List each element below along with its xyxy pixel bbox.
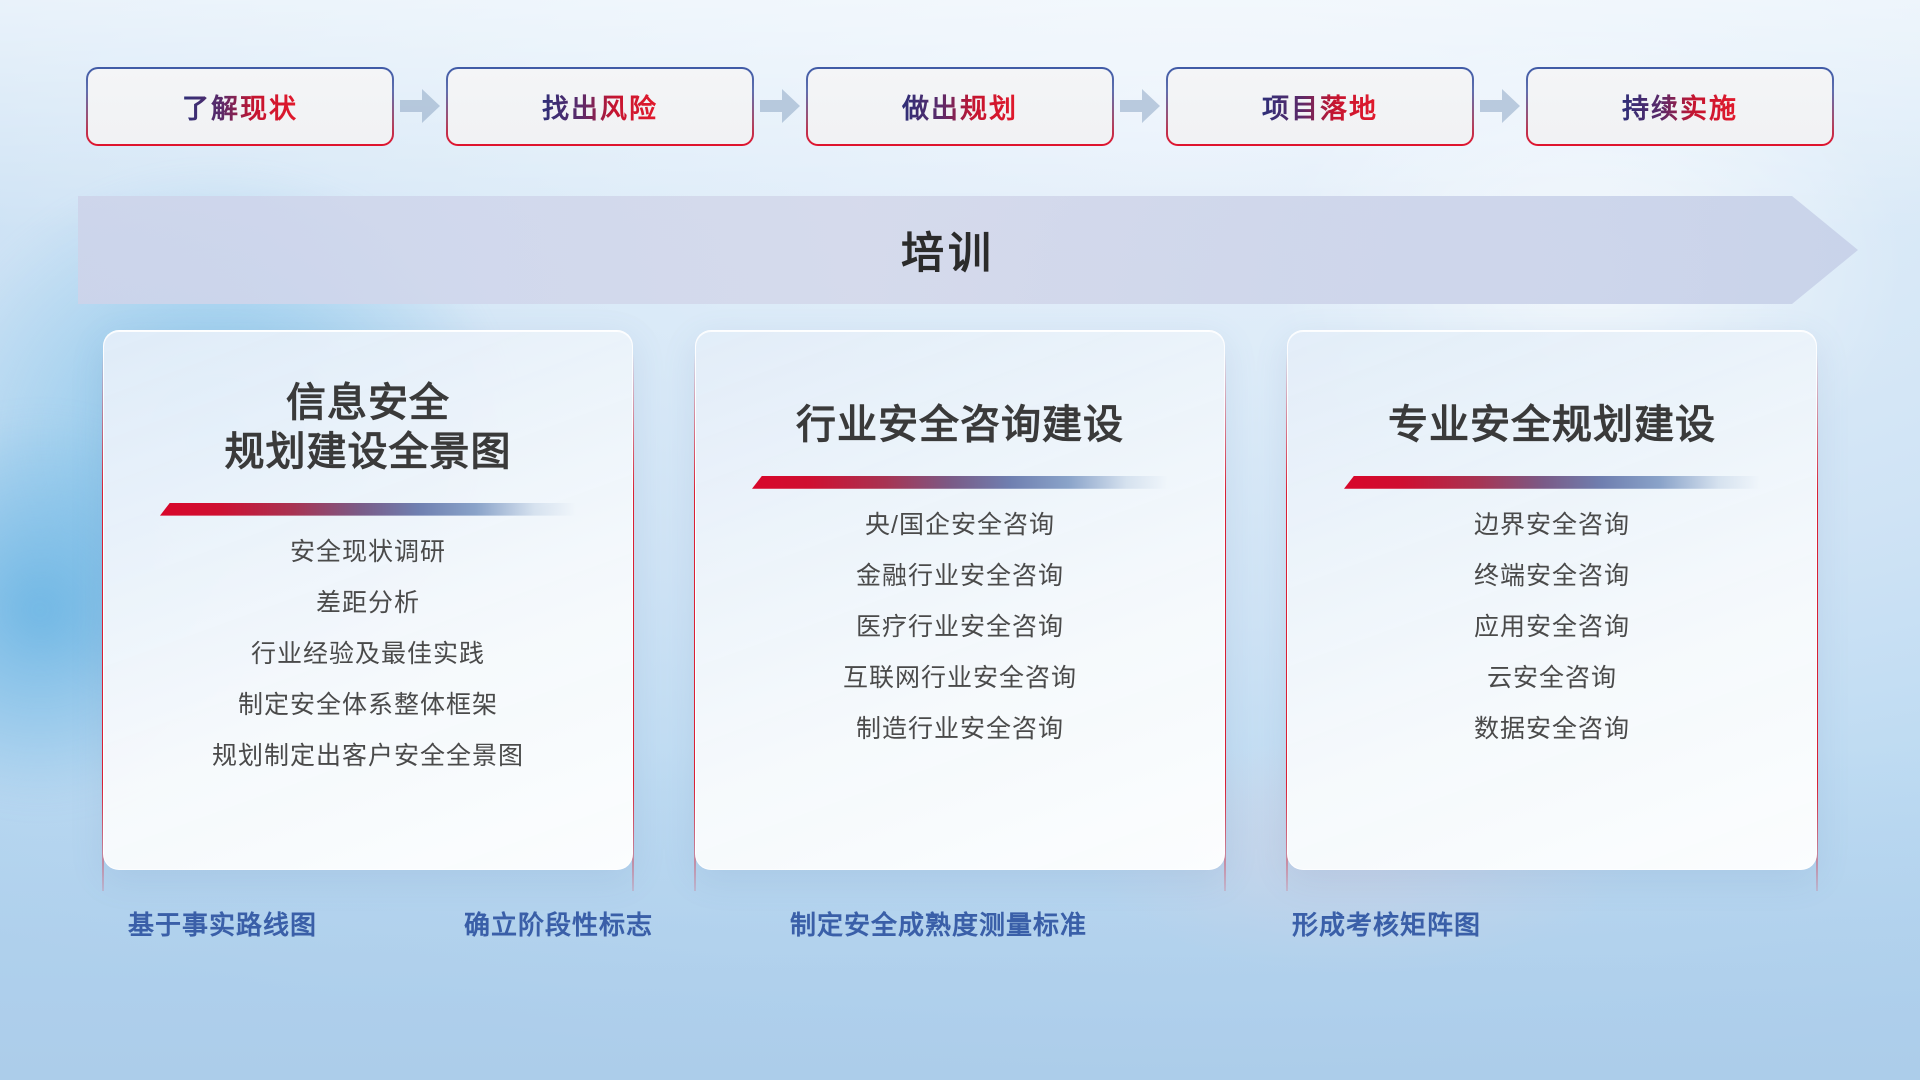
list-item: 金融行业安全咨询 <box>843 564 1077 589</box>
service-card-3[interactable]: 专业安全规划建设边界安全咨询终端安全咨询应用安全咨询云安全咨询数据安全咨询 <box>1287 330 1817 870</box>
step-connector-right-arrow-icon <box>392 68 448 144</box>
outcome-label-3: 制定安全成熟度测量标准 <box>790 905 1087 942</box>
list-item: 制定安全体系整体框架 <box>212 693 524 718</box>
outcome-label-row: 基于事实路线图确立阶段性标志制定安全成熟度测量标准形成考核矩阵图 <box>0 905 1920 955</box>
list-item: 终端安全咨询 <box>1474 564 1630 589</box>
card-right-accent-line <box>1224 353 1226 891</box>
step-connector-right-arrow-icon <box>1472 68 1528 144</box>
process-step-label: 项目落地 <box>1262 87 1378 126</box>
card-gradient-divider <box>1344 476 1760 489</box>
service-card-row: 信息安全 规划建设全景图安全现状调研差距分析行业经验及最佳实践制定安全体系整体框… <box>0 330 1920 870</box>
card-left-accent-line <box>1286 353 1288 891</box>
list-item: 差距分析 <box>212 591 524 616</box>
list-item: 规划制定出客户安全全景图 <box>212 744 524 769</box>
step-connector-right-arrow-icon <box>752 68 808 144</box>
outcome-label-2: 确立阶段性标志 <box>464 905 653 942</box>
outcome-label-1: 基于事实路线图 <box>128 905 317 942</box>
card-left-accent-line <box>694 353 696 891</box>
service-card-list: 边界安全咨询终端安全咨询应用安全咨询云安全咨询数据安全咨询 <box>1474 513 1630 742</box>
process-step-label: 了解现状 <box>182 87 298 126</box>
card-left-accent-line <box>102 353 104 891</box>
outcome-label-4: 形成考核矩阵图 <box>1292 905 1481 942</box>
card-gradient-divider <box>160 503 576 516</box>
card-right-accent-line <box>632 353 634 891</box>
process-step-4[interactable]: 项目落地 <box>1168 69 1472 144</box>
service-card-1[interactable]: 信息安全 规划建设全景图安全现状调研差距分析行业经验及最佳实践制定安全体系整体框… <box>103 330 633 870</box>
process-step-label: 做出规划 <box>902 87 1018 126</box>
process-step-5[interactable]: 持续实施 <box>1528 69 1832 144</box>
step-connector-right-arrow-icon <box>1112 68 1168 144</box>
service-card-list: 央/国企安全咨询金融行业安全咨询医疗行业安全咨询互联网行业安全咨询制造行业安全咨… <box>843 513 1077 742</box>
process-step-3[interactable]: 做出规划 <box>808 69 1112 144</box>
service-card-title: 行业安全咨询建设 <box>796 401 1124 450</box>
list-item: 医疗行业安全咨询 <box>843 615 1077 640</box>
service-card-title: 信息安全 规划建设全景图 <box>225 379 512 477</box>
list-item: 互联网行业安全咨询 <box>843 666 1077 691</box>
process-step-label: 找出风险 <box>542 87 658 126</box>
service-card-list: 安全现状调研差距分析行业经验及最佳实践制定安全体系整体框架规划制定出客户安全全景… <box>212 540 524 769</box>
service-card-2[interactable]: 行业安全咨询建设央/国企安全咨询金融行业安全咨询医疗行业安全咨询互联网行业安全咨… <box>695 330 1225 870</box>
process-step-label: 持续实施 <box>1622 87 1738 126</box>
process-step-1[interactable]: 了解现状 <box>88 69 392 144</box>
list-item: 云安全咨询 <box>1474 666 1630 691</box>
training-banner-title: 培训 <box>78 196 1858 304</box>
list-item: 边界安全咨询 <box>1474 513 1630 538</box>
card-right-accent-line <box>1816 353 1818 891</box>
list-item: 应用安全咨询 <box>1474 615 1630 640</box>
card-gradient-divider <box>752 476 1168 489</box>
training-banner: 培训 <box>78 196 1858 304</box>
process-step-2[interactable]: 找出风险 <box>448 69 752 144</box>
list-item: 央/国企安全咨询 <box>843 513 1077 538</box>
list-item: 数据安全咨询 <box>1474 717 1630 742</box>
list-item: 行业经验及最佳实践 <box>212 642 524 667</box>
list-item: 制造行业安全咨询 <box>843 717 1077 742</box>
process-step-row: 了解现状找出风险做出规划项目落地持续实施 <box>0 68 1920 144</box>
service-card-title: 专业安全规划建设 <box>1388 401 1716 450</box>
list-item: 安全现状调研 <box>212 540 524 565</box>
